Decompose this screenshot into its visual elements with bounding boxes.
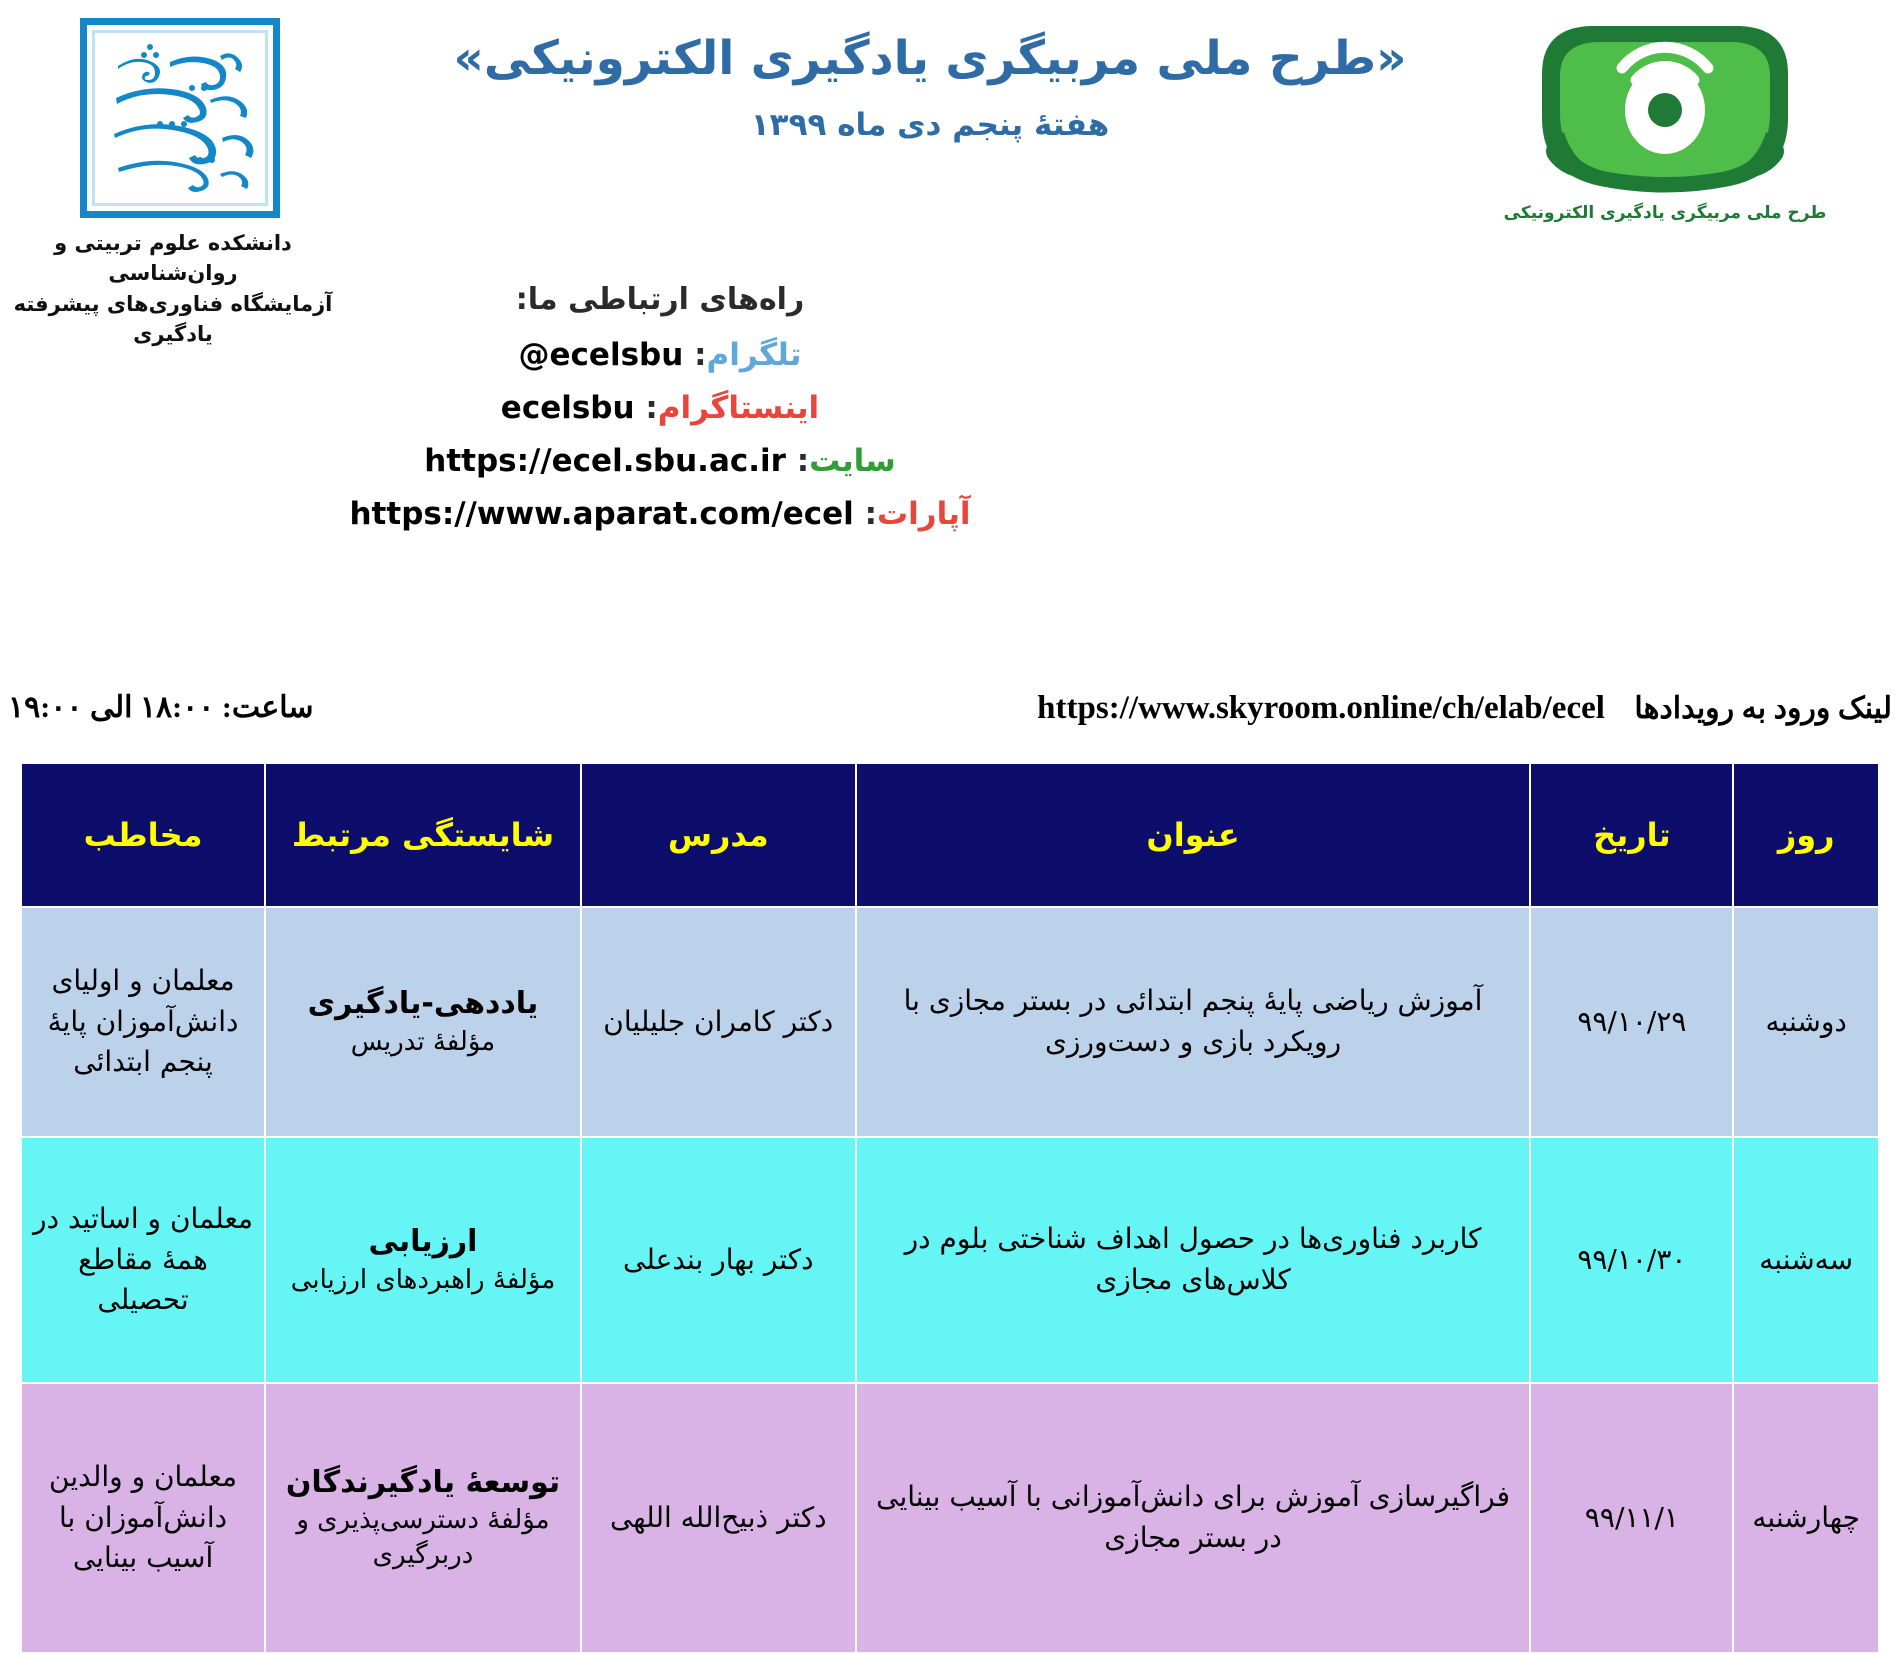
column-header-audience: مخاطب (21, 763, 265, 907)
page-title: «طرح ملی مربیگری یادگیری الکترونیکی» (380, 30, 1480, 89)
column-header-competency: شایستگی مرتبط (265, 763, 581, 907)
schedule-table-body: دوشنبه ۹۹/۱۰/۲۹ آموزش ریاضی پایهٔ پنجم ا… (21, 907, 1879, 1653)
contact-value-aparat[interactable]: https://www.aparat.com/ecel (349, 496, 853, 532)
title-block: «طرح ملی مربیگری یادگیری الکترونیکی» هفت… (380, 30, 1480, 143)
cell-audience: معلمان و اولیای دانش‌آموزان پایهٔ پنجم ا… (21, 907, 265, 1137)
contact-value-telegram[interactable]: @ecelsbu (519, 337, 684, 373)
table-header-row: روز تاریخ عنوان مدرس شایستگی مرتبط مخاطب (21, 763, 1879, 907)
cell-title: کاربرد فناوری‌ها در حصول اهداف شناختی بل… (856, 1137, 1531, 1383)
cell-instructor: دکتر کامران جلیلیان (581, 907, 856, 1137)
cell-audience: معلمان و والدین دانش‌آموزان با آسیب بینا… (21, 1383, 265, 1653)
competency-sub: مؤلفهٔ راهبردهای ارزیابی (274, 1263, 572, 1298)
cell-day: سه‌شنبه (1733, 1137, 1879, 1383)
faculty-line: دانشکده علوم تربیتی و روان‌شناسی (0, 228, 346, 289)
contact-heading: راه‌های ارتباطی ما: (0, 282, 1320, 317)
contact-value-site[interactable]: https://ecel.sbu.ac.ir (424, 443, 786, 479)
column-header-day: روز (1733, 763, 1879, 907)
column-header-date: تاریخ (1530, 763, 1733, 907)
cell-instructor: دکتر ذبیح‌الله اللهی (581, 1383, 856, 1653)
program-logo-block: طرح ملی مربیگری یادگیری الکترونیکی (1500, 14, 1830, 223)
page-subtitle: هفتهٔ پنجم دی ماه ۱۳۹۹ (380, 107, 1480, 143)
cell-instructor: دکتر بهار بندعلی (581, 1137, 856, 1383)
contact-label-aparat: آپارات (877, 496, 971, 532)
poster-header: دانشکده علوم تربیتی و روان‌شناسی آزمایشگ… (0, 0, 1900, 330)
cell-day: دوشنبه (1733, 907, 1879, 1137)
contact-row-instagram: اینستاگرام: ecelsbu (0, 390, 1320, 426)
contact-row-telegram: تلگرام: @ecelsbu (0, 337, 1320, 373)
program-logo-caption: طرح ملی مربیگری یادگیری الکترونیکی (1500, 203, 1830, 223)
event-link-group: لینک ورود به رویدادها https://www.skyroo… (1037, 690, 1892, 727)
contact-colon-aparat: : (865, 496, 877, 532)
contact-colon-instagram: : (645, 390, 657, 426)
event-link-bar: لینک ورود به رویدادها https://www.skyroo… (0, 690, 1900, 752)
event-link-label: لینک ورود به رویدادها (1634, 692, 1892, 725)
contact-row-aparat: آپارات: https://www.aparat.com/ecel (0, 496, 1320, 532)
competency-sub: مؤلفهٔ تدریس (274, 1025, 572, 1060)
competency-sub: مؤلفهٔ دسترسی‌پذیری و دربرگیری (274, 1503, 572, 1573)
schedule-table-wrap: روز تاریخ عنوان مدرس شایستگی مرتبط مخاطب… (20, 762, 1880, 1654)
contact-label-instagram: اینستاگرام (658, 390, 819, 426)
column-header-title: عنوان (856, 763, 1531, 907)
event-link-url[interactable]: https://www.skyroom.online/ch/elab/ecel (1037, 690, 1605, 727)
cell-date: ۹۹/۱۰/۲۹ (1530, 907, 1733, 1137)
competency-main: یاددهی-یادگیری (274, 984, 572, 1025)
cell-day: چهارشنبه (1733, 1383, 1879, 1653)
ecel-program-logo-icon (1530, 14, 1800, 199)
contact-colon-site: : (797, 443, 809, 479)
contact-row-site: سایت: https://ecel.sbu.ac.ir (0, 443, 1320, 479)
contact-block: راه‌های ارتباطی ما: تلگرام: @ecelsbu این… (0, 282, 1320, 549)
cell-competency: ارزیابی مؤلفهٔ راهبردهای ارزیابی (265, 1137, 581, 1383)
competency-main: توسعهٔ یادگیرندگان (274, 1463, 572, 1504)
cell-competency: توسعهٔ یادگیرندگان مؤلفهٔ دسترسی‌پذیری و… (265, 1383, 581, 1653)
contact-label-site: سایت (809, 443, 896, 479)
event-time-label: ساعت: ۱۸:۰۰ الی ۱۹:۰۰ (8, 690, 314, 725)
competency-main: ارزیابی (274, 1222, 572, 1263)
table-row: سه‌شنبه ۹۹/۱۰/۳۰ کاربرد فناوری‌ها در حصو… (21, 1137, 1879, 1383)
cell-title: فراگیرسازی آموزش برای دانش‌آموزانی با آس… (856, 1383, 1531, 1653)
table-row: دوشنبه ۹۹/۱۰/۲۹ آموزش ریاضی پایهٔ پنجم ا… (21, 907, 1879, 1137)
cell-date: ۹۹/۱۰/۳۰ (1530, 1137, 1733, 1383)
cell-audience: معلمان و اساتید در همهٔ مقاطع تحصیلی (21, 1137, 265, 1383)
contact-value-instagram[interactable]: ecelsbu (501, 390, 635, 426)
cell-competency: یاددهی-یادگیری مؤلفهٔ تدریس (265, 907, 581, 1137)
schedule-table-head: روز تاریخ عنوان مدرس شایستگی مرتبط مخاطب (21, 763, 1879, 907)
table-row: چهارشنبه ۹۹/۱۱/۱ فراگیرسازی آموزش برای د… (21, 1383, 1879, 1653)
shahid-beheshti-university-logo-icon (80, 18, 280, 218)
contact-label-telegram: تلگرام (707, 337, 802, 373)
column-header-instructor: مدرس (581, 763, 856, 907)
cell-title: آموزش ریاضی پایهٔ پنجم ابتدائی در بستر م… (856, 907, 1531, 1137)
contact-colon-telegram: : (694, 337, 706, 373)
cell-date: ۹۹/۱۱/۱ (1530, 1383, 1733, 1653)
schedule-table: روز تاریخ عنوان مدرس شایستگی مرتبط مخاطب… (20, 762, 1880, 1654)
university-logo-frame (92, 30, 268, 206)
